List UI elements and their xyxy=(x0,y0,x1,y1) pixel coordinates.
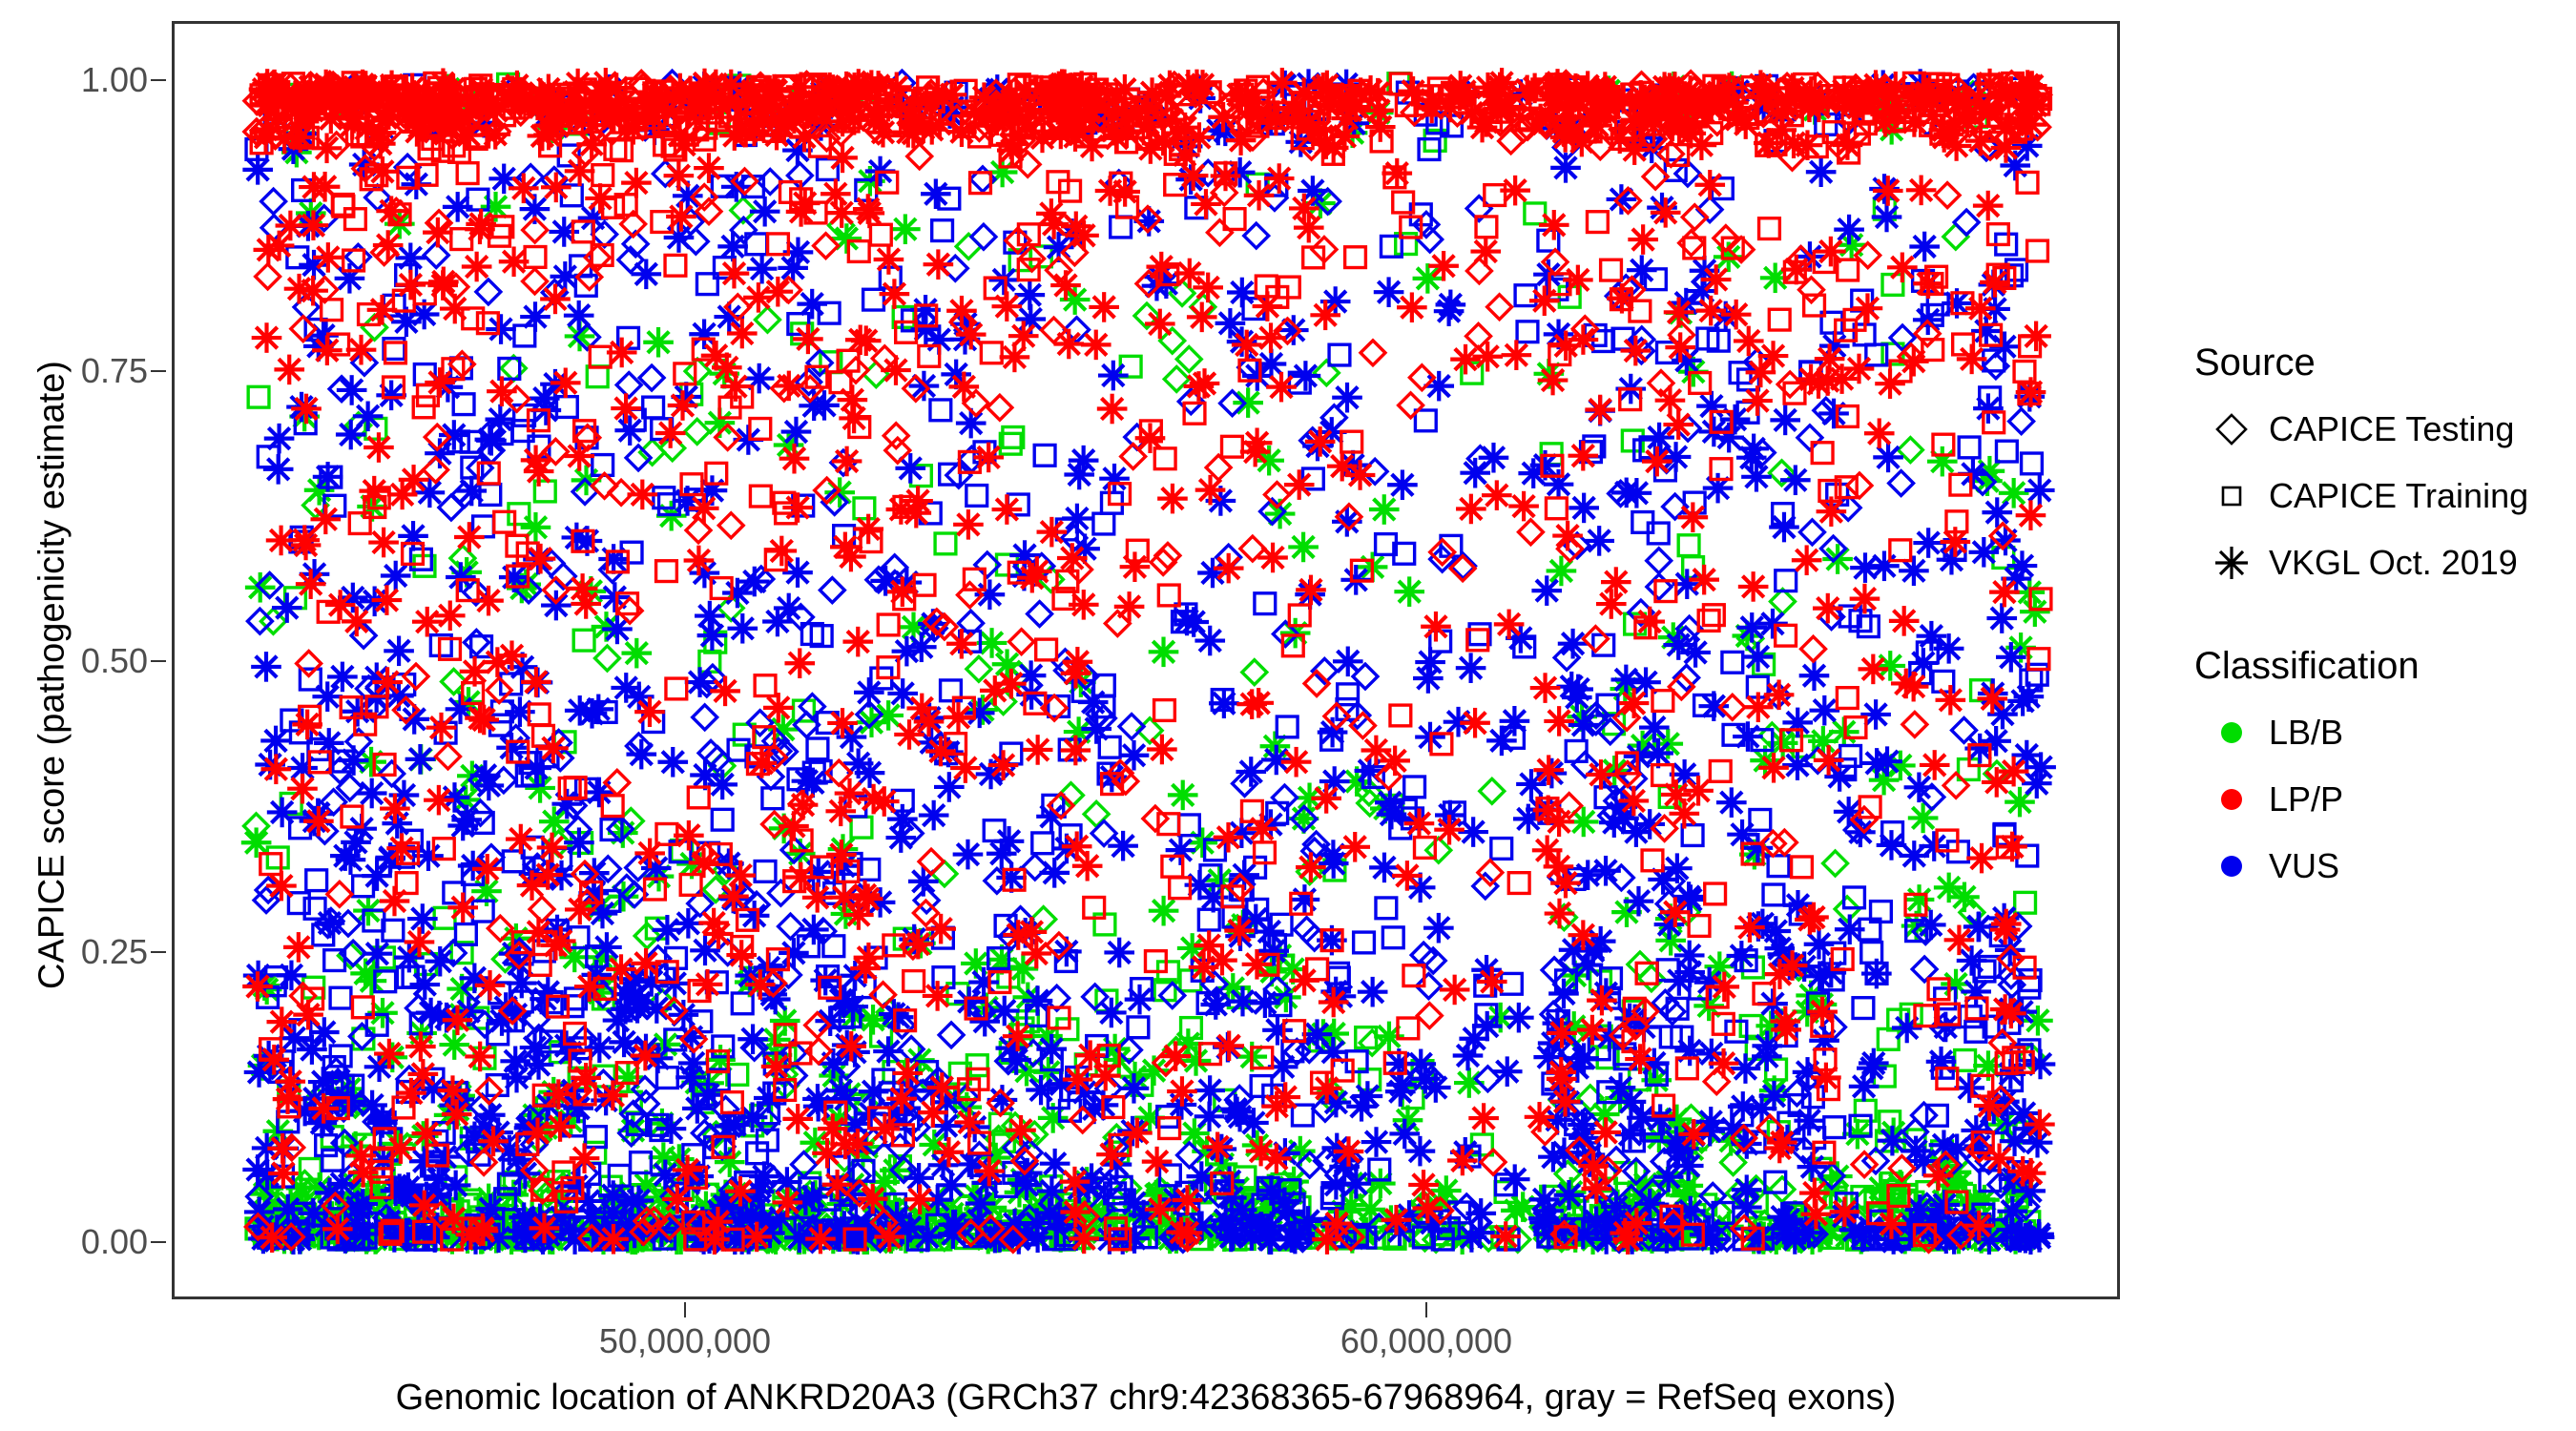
circle-icon-lbb xyxy=(2194,716,2269,749)
y-axis-ticks: 0.000.250.500.751.00 xyxy=(0,0,148,1431)
y-tick-label: 0.00 xyxy=(5,1225,148,1259)
x-tick-label: 50,000,000 xyxy=(542,1324,828,1358)
legend-item-lpp[interactable]: LP/P xyxy=(2194,773,2576,826)
legend-title-source: Source xyxy=(2194,343,2576,382)
y-tick-mark xyxy=(151,951,166,953)
plot-root: CAPICE score (pathogenicity estimate) 0.… xyxy=(0,0,2576,1431)
asterisk-icon xyxy=(2194,543,2269,583)
legend-item-lbb[interactable]: LB/B xyxy=(2194,706,2576,759)
legend-label-vus: VUS xyxy=(2269,849,2339,883)
diamond-icon xyxy=(2194,410,2269,448)
scatter-layer xyxy=(175,24,2117,1296)
x-tick-mark xyxy=(684,1302,686,1317)
y-tick-label: 0.50 xyxy=(5,644,148,678)
square-icon xyxy=(2194,477,2269,515)
legend-item-vus[interactable]: VUS xyxy=(2194,840,2576,893)
y-tick-mark xyxy=(151,370,166,372)
legend-label-capice-training: CAPICE Training xyxy=(2269,479,2528,513)
y-tick-mark xyxy=(151,79,166,81)
y-tick-label: 0.75 xyxy=(5,354,148,388)
y-tick-label: 1.00 xyxy=(5,63,148,97)
legend: Source CAPICE Testing CAPICE Training xyxy=(2194,343,2576,906)
legend-item-capice-training[interactable]: CAPICE Training xyxy=(2194,469,2576,523)
legend-item-vkgl[interactable]: VKGL Oct. 2019 xyxy=(2194,536,2576,590)
x-tick-mark xyxy=(1425,1302,1427,1317)
legend-spacer xyxy=(2194,603,2576,647)
x-axis-label: Genomic location of ANKRD20A3 (GRCh37 ch… xyxy=(172,1378,2120,1419)
legend-label-vkgl: VKGL Oct. 2019 xyxy=(2269,546,2518,580)
legend-label-lpp: LP/P xyxy=(2269,782,2343,817)
y-tick-label: 0.25 xyxy=(5,935,148,969)
circle-icon-lpp xyxy=(2194,783,2269,816)
plot-panel xyxy=(172,21,2120,1299)
legend-title-classification: Classification xyxy=(2194,647,2576,685)
legend-label-lbb: LB/B xyxy=(2269,715,2343,750)
y-tick-mark xyxy=(151,1241,166,1243)
circle-icon-vus xyxy=(2194,850,2269,882)
legend-item-capice-testing[interactable]: CAPICE Testing xyxy=(2194,403,2576,456)
y-tick-mark xyxy=(151,660,166,662)
legend-label-capice-testing: CAPICE Testing xyxy=(2269,412,2514,446)
x-tick-label: 60,000,000 xyxy=(1283,1324,1569,1358)
